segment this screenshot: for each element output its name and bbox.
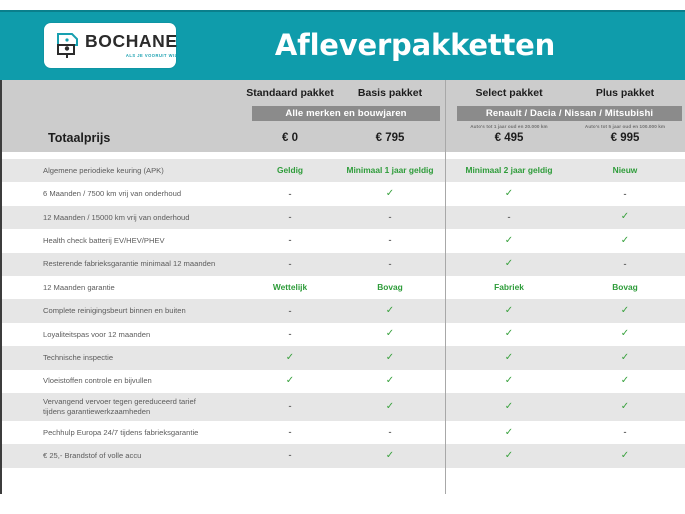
cell-c4: ✓ [570, 376, 680, 386]
cell-c3: ✓ [454, 402, 564, 412]
logo-tagline: ALS JE VOORUIT WIL [85, 53, 178, 58]
table-row: Algemene periodieke keuring (APK)GeldigM… [2, 159, 685, 182]
totaalprijs-label: Totaalprijs [48, 131, 110, 145]
cell-c1: - [242, 236, 338, 245]
row-label: 12 Maanden / 15000 km vrij van onderhoud [43, 213, 243, 223]
row-label: Resterende fabrieksgarantie minimaal 12 … [43, 259, 243, 269]
cell-c4: ✓ [570, 212, 680, 222]
cell-c4: ✓ [570, 402, 680, 412]
price-select: € 495 [454, 132, 564, 144]
pricing-table-page: Afleverpakketten BOCHANE ALS JE VOORUIT … [0, 0, 685, 514]
row-label: Health check batterij EV/HEV/PHEV [43, 236, 243, 246]
cell-c2: - [342, 236, 438, 245]
cell-c3: Minimaal 2 jaar geldig [454, 166, 564, 174]
cell-c2: ✓ [342, 329, 438, 339]
logo-text: BOCHANE ALS JE VOORUIT WIL [85, 33, 178, 59]
column-header-plus: Plus pakket [570, 87, 680, 99]
column-subtitle-plus: Auto's tot 5 jaar oud en 100.000 km [570, 124, 680, 129]
cell-c4: - [570, 428, 680, 437]
column-header-select: Select pakket [454, 87, 564, 99]
cell-c4: - [570, 190, 680, 199]
column-headers: Standaard pakket Basis pakket Select pak… [2, 87, 685, 102]
cell-c1: - [242, 190, 338, 199]
cell-c4: - [570, 260, 680, 269]
cell-c2: ✓ [342, 353, 438, 363]
cell-c4: ✓ [570, 353, 680, 363]
cell-c2: ✓ [342, 189, 438, 199]
package-comparison-table: Standaard pakket Basis pakket Select pak… [0, 80, 685, 494]
cell-c3: ✓ [454, 376, 564, 386]
price-plus: € 995 [570, 132, 680, 144]
table-row: 12 Maanden / 15000 km vrij van onderhoud… [2, 206, 685, 229]
table-row: Resterende fabrieksgarantie minimaal 12 … [2, 253, 685, 276]
cell-c3: Fabriek [454, 283, 564, 291]
cell-c3: ✓ [454, 189, 564, 199]
cell-c3: ✓ [454, 236, 564, 246]
cell-c4: Bovag [570, 283, 680, 291]
table-row: Complete reinigingsbeurt binnen en buite… [2, 299, 685, 322]
cell-c2: Minimaal 1 jaar geldig [342, 166, 438, 174]
column-header-basis: Basis pakket [342, 87, 438, 99]
row-label: Vloeistoffen controle en bijvullen [43, 376, 243, 386]
table-top-gap [2, 152, 685, 159]
row-label: Algemene periodieke keuring (APK) [43, 166, 243, 176]
table-body: Algemene periodieke keuring (APK)GeldigM… [2, 152, 685, 490]
table-row: 12 Maanden garantieWettelijkBovagFabriek… [2, 276, 685, 299]
cell-c1: - [242, 451, 338, 460]
row-label: Complete reinigingsbeurt binnen en buite… [43, 306, 243, 316]
row-label: 6 Maanden / 7500 km vrij van onderhoud [43, 189, 243, 199]
group-bar-brands: Renault / Dacia / Nissan / Mitsubishi [457, 106, 682, 121]
table-row: Pechhulp Europa 24/7 tijdens fabrieksgar… [2, 421, 685, 444]
cell-c4: ✓ [570, 329, 680, 339]
cell-c4: ✓ [570, 306, 680, 316]
table-row: 6 Maanden / 7500 km vrij van onderhoud-✓… [2, 182, 685, 205]
cell-c4: ✓ [570, 451, 680, 461]
cell-c4: Nieuw [570, 166, 680, 174]
price-standaard: € 0 [242, 132, 338, 144]
group-bar-alle-merken: Alle merken en bouwjaren [252, 106, 440, 121]
row-label: Pechhulp Europa 24/7 tijdens fabrieksgar… [43, 428, 243, 438]
row-label: € 25,- Brandstof of volle accu [43, 451, 243, 461]
column-group-divider [445, 80, 446, 494]
cell-c3: ✓ [454, 306, 564, 316]
cell-c1: - [242, 307, 338, 316]
cell-c1: - [242, 260, 338, 269]
table-header: Standaard pakket Basis pakket Select pak… [2, 80, 685, 152]
cell-c2: ✓ [342, 376, 438, 386]
price-basis: € 795 [342, 132, 438, 144]
cell-c3: - [454, 213, 564, 222]
cell-c4: ✓ [570, 236, 680, 246]
row-label: Loyaliteitspas voor 12 maanden [43, 330, 243, 340]
table-row: Vervangend vervoer tegen gereduceerd tar… [2, 393, 685, 421]
cell-c3: ✓ [454, 329, 564, 339]
page-banner: Afleverpakketten BOCHANE ALS JE VOORUIT … [0, 10, 685, 80]
cell-c2: - [342, 428, 438, 437]
cell-c2: - [342, 260, 438, 269]
cell-c1: - [242, 330, 338, 339]
column-subtitle-select: Auto's tot 1 jaar oud en 20.000 km [454, 124, 564, 129]
logo-wordmark: BOCHANE [85, 33, 178, 51]
cell-c2: ✓ [342, 451, 438, 461]
cell-c3: ✓ [454, 353, 564, 363]
cell-c2: ✓ [342, 306, 438, 316]
cell-c3: ✓ [454, 428, 564, 438]
cell-c1: - [242, 213, 338, 222]
row-label: 12 Maanden garantie [43, 283, 243, 293]
cell-c1: - [242, 402, 338, 411]
cell-c1: ✓ [242, 353, 338, 363]
table-row: Health check batterij EV/HEV/PHEV--✓✓ [2, 229, 685, 252]
cell-c1: Wettelijk [242, 283, 338, 291]
table-row: Technische inspectie✓✓✓✓ [2, 346, 685, 369]
table-row: € 25,- Brandstof of volle accu-✓✓✓ [2, 444, 685, 467]
cell-c2: Bovag [342, 283, 438, 291]
cell-c1: ✓ [242, 376, 338, 386]
bochane-logo-icon [55, 31, 81, 61]
cell-c2: - [342, 213, 438, 222]
column-header-standaard: Standaard pakket [242, 87, 338, 99]
brand-logo: BOCHANE ALS JE VOORUIT WIL [44, 23, 176, 68]
row-label: Vervangend vervoer tegen gereduceerd tar… [43, 397, 243, 416]
cell-c3: ✓ [454, 259, 564, 269]
cell-c1: Geldig [242, 166, 338, 174]
table-row: Loyaliteitspas voor 12 maanden-✓✓✓ [2, 323, 685, 346]
cell-c1: - [242, 428, 338, 437]
table-row: Vloeistoffen controle en bijvullen✓✓✓✓ [2, 370, 685, 393]
cell-c2: ✓ [342, 402, 438, 412]
row-label: Technische inspectie [43, 353, 243, 363]
table-bottom-spacer [2, 468, 685, 490]
cell-c3: ✓ [454, 451, 564, 461]
